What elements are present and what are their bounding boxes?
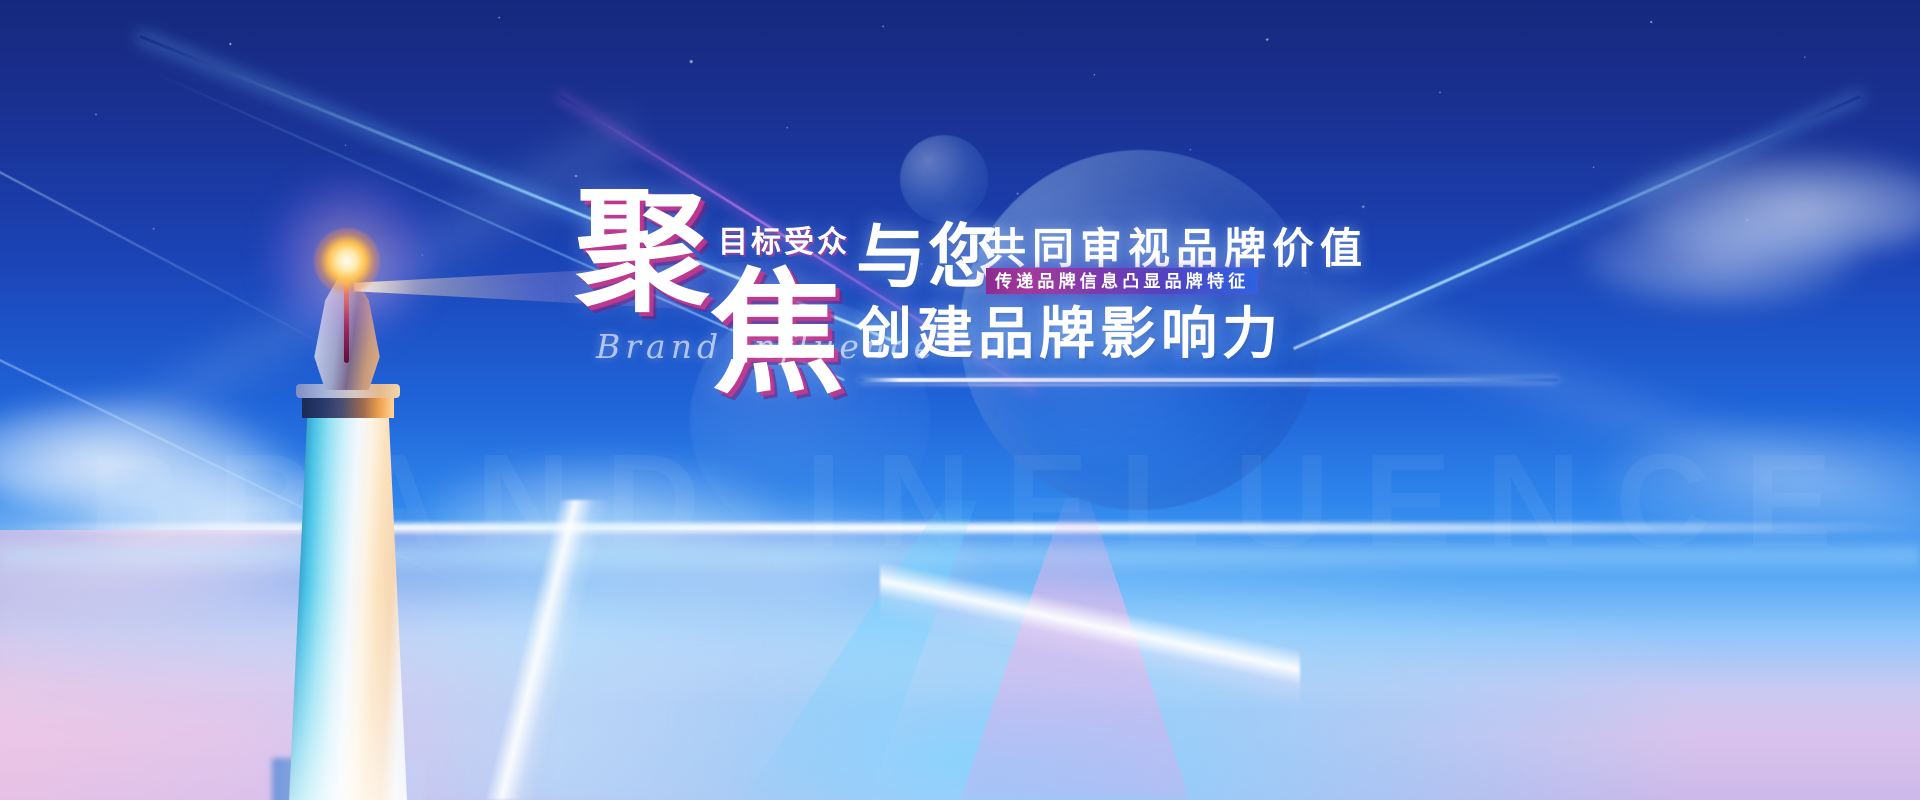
lighthouse-tower-shading	[288, 416, 408, 800]
headline-divider-glow	[858, 384, 1558, 386]
tagline-pill-text: 传递品牌信息凸显品牌特征	[995, 273, 1249, 290]
audience-label: 目标受众	[718, 228, 850, 258]
cloud-8	[1600, 420, 1920, 540]
headline-secondary: 共同审视品牌价值	[984, 228, 1368, 270]
light-ray-3	[1293, 95, 1861, 350]
pen-nib-lighthouse	[258, 222, 448, 800]
tagline-pill: 传递品牌信息凸显品牌特征	[986, 268, 1258, 294]
cloud-6	[1620, 150, 1920, 260]
headline-char-ju: 聚	[575, 186, 709, 320]
planet-small-icon	[900, 135, 988, 223]
promo-banner: BRAND INFLUENCE 聚 焦 目标受众 Brand influence…	[0, 0, 1920, 800]
beacon-light-icon	[314, 228, 380, 294]
headline-with-you: 与您	[856, 222, 1000, 292]
lighthouse-collar	[302, 396, 394, 418]
cloud-7	[1580, 210, 1860, 305]
cloud-1	[0, 395, 290, 515]
headline-tertiary: 创建品牌影响力	[856, 306, 1283, 362]
headline-divider	[858, 378, 1558, 382]
